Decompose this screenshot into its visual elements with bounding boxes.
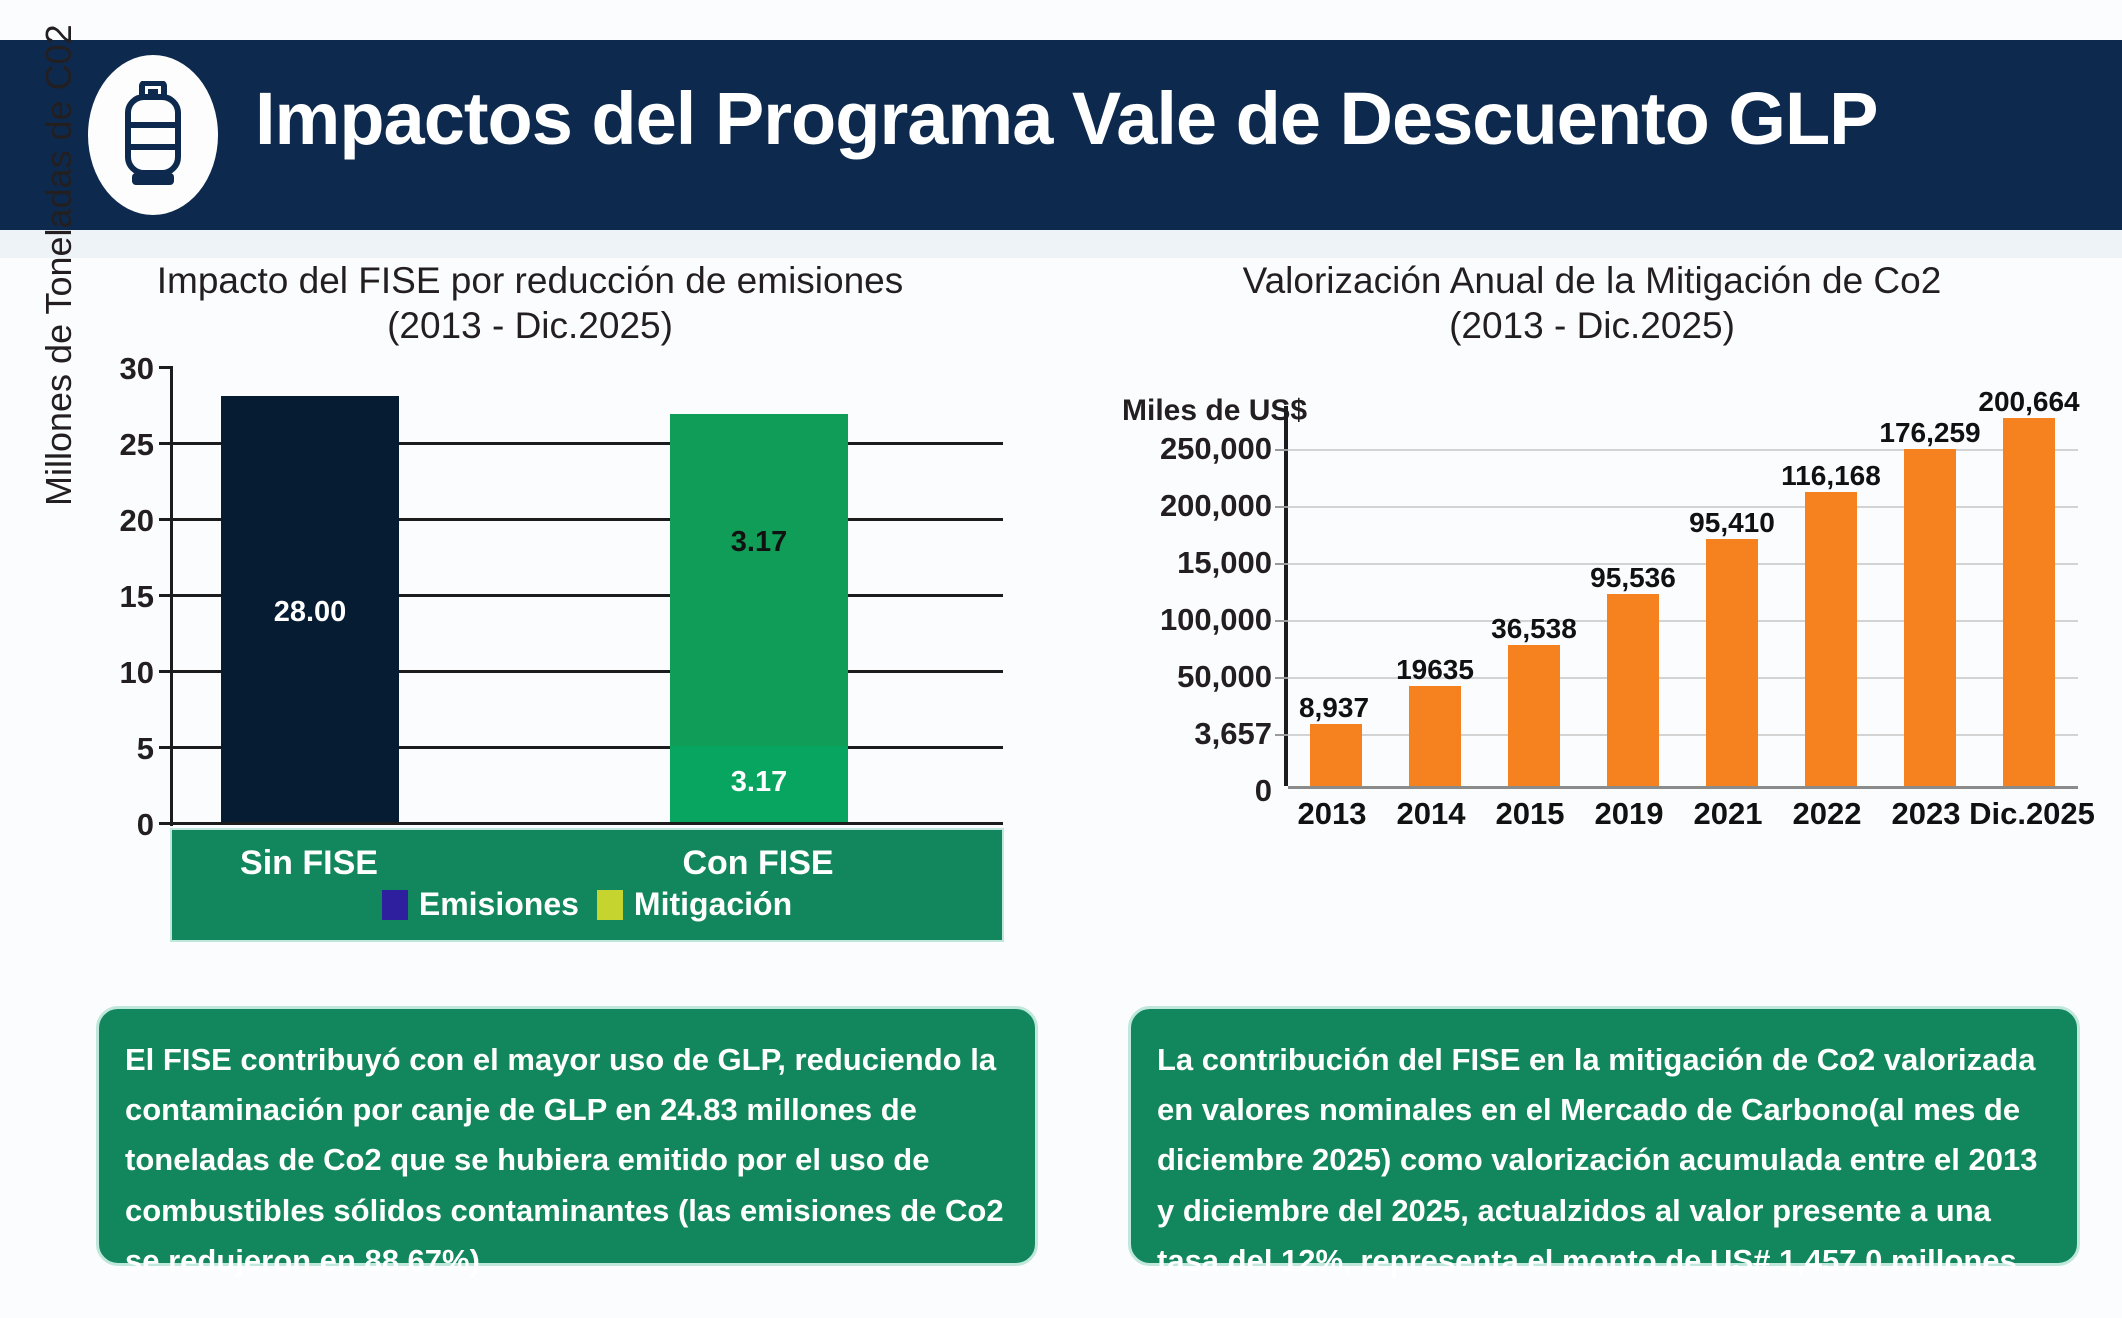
- bar-value-label: 28.00: [221, 596, 399, 629]
- x-category-sin-fise: Sin FISE: [220, 844, 398, 883]
- right-x-axis-labels: 2013 2014 2015 2019 2021 2022 2023 Dic.2…: [1284, 796, 2074, 846]
- bar-sin-fise: 28.00: [221, 396, 399, 822]
- left-chart-legend: Emisiones Mitigación: [172, 886, 1002, 923]
- header-bottom-strip: [0, 230, 2122, 258]
- left-y-tick: 10: [120, 655, 154, 691]
- right-y-tick: 3,657: [1194, 716, 1272, 752]
- bar-label-dic-2025: 200,664: [1963, 386, 2095, 418]
- x-label-2013: 2013: [1298, 796, 1367, 832]
- left-y-tick: 25: [120, 427, 154, 463]
- left-y-tick: 30: [120, 351, 154, 387]
- x-label-2019: 2019: [1595, 796, 1664, 832]
- x-label-2021: 2021: [1694, 796, 1763, 832]
- bar-label-2019: 95,536: [1567, 562, 1699, 594]
- page-title: Impactos del Programa Vale de Descuento …: [255, 76, 1878, 161]
- right-panel: Valorización Anual de la Mitigación de C…: [1062, 258, 2122, 348]
- right-chart: Miles de US$ 250,000 200,000 15,000 100,…: [1062, 366, 2122, 1026]
- bar-2019: [1607, 594, 1659, 786]
- left-y-tick: 5: [137, 731, 154, 767]
- left-plot-area: 28.00 3.17 3.17: [170, 366, 1003, 826]
- left-y-tick: 20: [120, 503, 154, 539]
- legend-swatch-icon: [597, 890, 623, 920]
- bar-con-fise-mitigacion: 3.17: [670, 414, 848, 746]
- bar-value-label: 3.17: [670, 526, 848, 559]
- right-y-tick-labels: 250,000 200,000 15,000 100,000 50,000 3,…: [1072, 366, 1272, 786]
- x-label-2022: 2022: [1793, 796, 1862, 832]
- legend-item-emisiones[interactable]: Emisiones: [382, 886, 579, 923]
- bar-label-2022: 116,168: [1765, 460, 1897, 492]
- left-chart-title-line2: (2013 - Dic.2025): [0, 303, 1060, 348]
- x-label-2014: 2014: [1397, 796, 1466, 832]
- left-chart-title-line1: Impacto del FISE por reducción de emisio…: [157, 260, 904, 301]
- left-y-tick: 15: [120, 579, 154, 615]
- bar-label-2023: 176,259: [1864, 417, 1996, 449]
- bar-2013: [1310, 724, 1362, 786]
- bar-value-label: 3.17: [670, 766, 848, 799]
- right-chart-title: Valorización Anual de la Mitigación de C…: [1062, 258, 2122, 348]
- right-chart-title-line2: (2013 - Dic.2025): [1062, 303, 2122, 348]
- bar-label-2015: 36,538: [1468, 613, 1600, 645]
- legend-label: Mitigación: [634, 886, 792, 923]
- bar-label-2014: 19635: [1369, 654, 1501, 686]
- legend-swatch-icon: [382, 890, 408, 920]
- bar-2021: [1706, 539, 1758, 786]
- x-label-dic-2025: Dic.2025: [1969, 796, 2095, 832]
- bar-label-2021: 95,410: [1666, 507, 1798, 539]
- legend-item-mitigacion[interactable]: Mitigación: [597, 886, 792, 923]
- legend-label: Emisiones: [419, 886, 579, 923]
- bar-label-2013: 8,937: [1268, 692, 1400, 724]
- right-y-tick: 50,000: [1177, 659, 1272, 695]
- left-panel: Impacto del FISE por reducción de emisio…: [0, 258, 1060, 348]
- left-y-tick-labels: 30 25 20 15 10 5 0: [86, 366, 154, 826]
- gas-cylinder-icon: [88, 55, 218, 215]
- bar-con-fise-emisiones: 3.17: [670, 746, 848, 822]
- right-y-tick: 250,000: [1160, 431, 1272, 467]
- x-label-2015: 2015: [1496, 796, 1565, 832]
- left-y-tick: 0: [137, 807, 154, 843]
- left-x-axis-band: Sin FISE Con FISE Emisiones Mitigación: [170, 828, 1004, 942]
- left-chart-title: Impacto del FISE por reducción de emisio…: [0, 258, 1060, 348]
- bar-2023: [1904, 449, 1956, 786]
- right-caption-box: La contribución del FISE en la mitigació…: [1128, 1006, 2080, 1266]
- left-caption-box: El FISE contribuyó con el mayor uso de G…: [96, 1006, 1038, 1266]
- bar-2022: [1805, 492, 1857, 786]
- right-plot-area: 8,937 19635 36,538 95,536 95,410 116,168…: [1284, 406, 2078, 786]
- right-y-tick: 15,000: [1177, 545, 1272, 581]
- x-label-2023: 2023: [1892, 796, 1961, 832]
- bar-2015: [1508, 645, 1560, 786]
- left-y-axis-title: Millones de Toneladas de C02: [38, 24, 80, 506]
- right-y-tick: 0: [1255, 773, 1272, 809]
- bar-2014: [1409, 686, 1461, 786]
- bar-dic-2025: [2003, 418, 2055, 786]
- left-chart: Millones de Toneladas de C02 30 25 20 15…: [0, 366, 1060, 1026]
- right-chart-title-line1: Valorización Anual de la Mitigación de C…: [1243, 260, 1942, 301]
- right-y-tick: 200,000: [1160, 488, 1272, 524]
- right-y-tick: 100,000: [1160, 602, 1272, 638]
- x-category-con-fise: Con FISE: [669, 844, 847, 883]
